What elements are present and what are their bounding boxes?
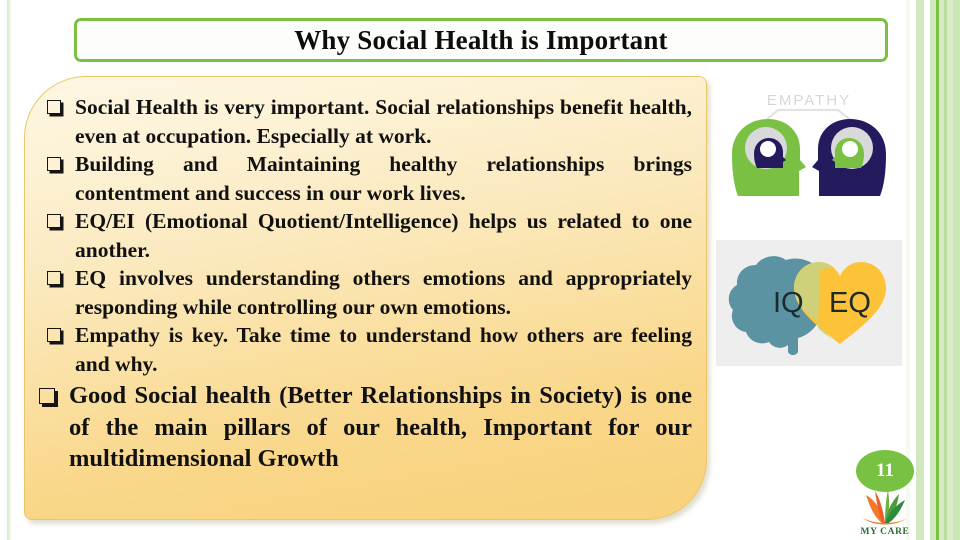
- iq-label: IQ: [773, 287, 804, 319]
- list-item: Building and Maintaining healthy relatio…: [47, 150, 692, 207]
- content-panel: Social Health is very important. Social …: [24, 76, 707, 520]
- page-title: Why Social Health is Important: [294, 25, 668, 56]
- checkbox-square-icon: [47, 328, 61, 342]
- list-item-text: Building and Maintaining healthy relatio…: [75, 150, 692, 207]
- checkbox-square-icon: [47, 271, 61, 285]
- slide-number-text: 11: [876, 460, 894, 482]
- list-item-emphasis: Good Social health (Better Relationships…: [39, 380, 692, 475]
- brand-logo-text: MY CARE: [852, 527, 918, 537]
- empathy-heads-icon: [716, 92, 902, 214]
- slide: Why Social Health is Important Social He…: [0, 0, 960, 540]
- list-item: Social Health is very important. Social …: [47, 93, 692, 150]
- brand-logo: MY CARE: [852, 487, 918, 537]
- checkbox-square-icon: [47, 157, 61, 171]
- list-item-text: Good Social health (Better Relationships…: [69, 380, 692, 475]
- list-item: Empathy is key. Take time to understand …: [47, 321, 692, 378]
- list-item-text: EQ/EI (Emotional Quotient/Intelligence) …: [75, 207, 692, 264]
- list-item-text: EQ involves understanding others emotion…: [75, 264, 692, 321]
- slide-number-badge: 11: [856, 450, 914, 492]
- list-item-text: Social Health is very important. Social …: [75, 93, 692, 150]
- leaf-fan-icon: [852, 487, 918, 527]
- brain-heart-icon: IQ EQ: [716, 240, 902, 366]
- eq-label: EQ: [829, 287, 871, 319]
- title-box: Why Social Health is Important: [74, 18, 888, 62]
- checkbox-square-icon: [47, 100, 61, 114]
- checkbox-square-icon: [39, 388, 55, 404]
- list-item-text: Empathy is key. Take time to understand …: [75, 321, 692, 378]
- empathy-label: EMPATHY: [716, 92, 902, 109]
- bullet-list: Social Health is very important. Social …: [25, 77, 706, 475]
- list-item: EQ involves understanding others emotion…: [47, 264, 692, 321]
- checkbox-square-icon: [47, 214, 61, 228]
- iq-eq-illustration: IQ EQ: [716, 240, 902, 366]
- left-decorative-rule: [6, 0, 11, 540]
- list-item: EQ/EI (Emotional Quotient/Intelligence) …: [47, 207, 692, 264]
- empathy-illustration: EMPATHY: [716, 92, 902, 214]
